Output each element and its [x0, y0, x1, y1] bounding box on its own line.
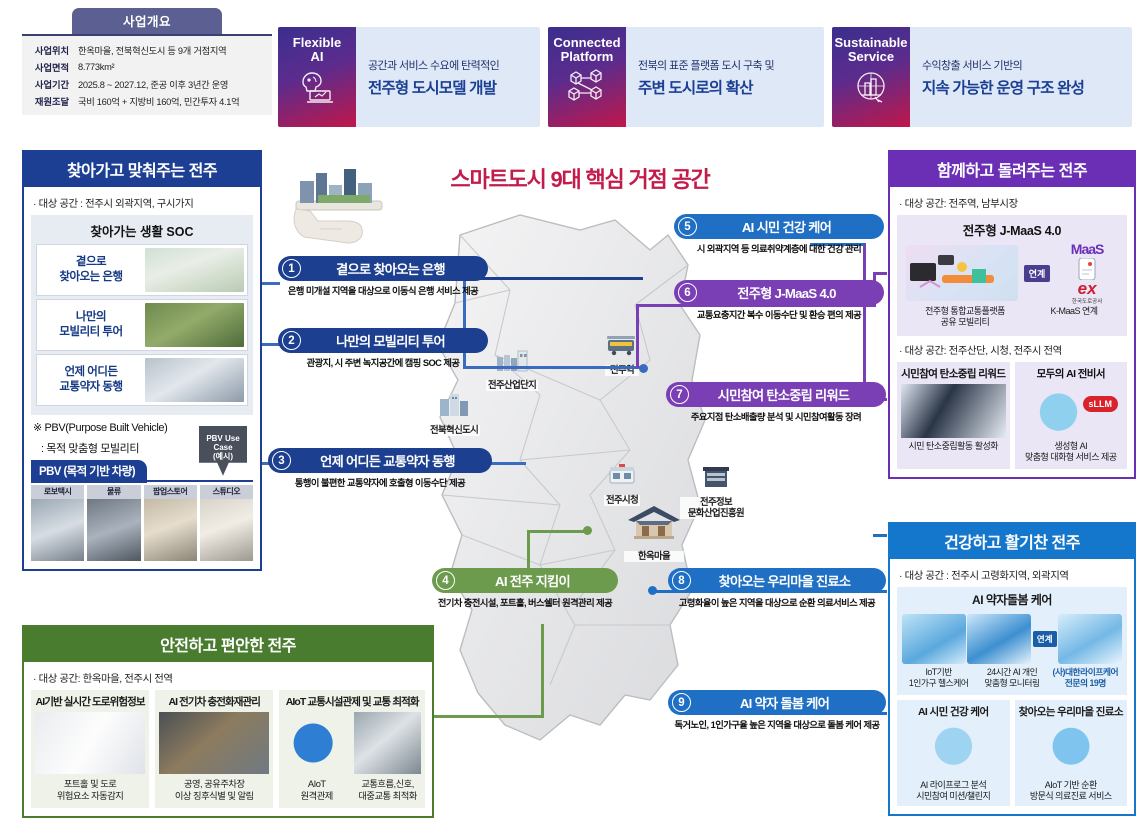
callout-description: 은행 미개설 지역을 대상으로 이동식 은행 서비스 제공 — [278, 283, 488, 297]
cell-title: AIoT 교통시설관제 및 교통 최적화 — [283, 694, 421, 709]
soc-item-label: 나만의 모빌리티 투어 — [37, 300, 145, 350]
overview-key: 사업면적 — [26, 60, 78, 74]
pbv-usecase-badge: PBV Use Case (예시) — [199, 426, 247, 476]
overview-value: 국비 160억 + 지방비 160억, 민간투자 4.1억 — [78, 94, 268, 108]
link-label: 연계 — [1033, 631, 1057, 647]
banner-title-line2: Service — [848, 50, 894, 64]
banner-subtitle: 전북의 표준 플랫폼 도시 구축 및 — [638, 57, 824, 73]
sub-title: 찾아오는 우리마을 진료소 — [1019, 704, 1124, 719]
callout-title: 시민참여 탄소중립 리워드 — [693, 385, 886, 404]
callout-number: 4 — [436, 571, 455, 590]
pbv-image — [200, 499, 253, 561]
overview-value: 한옥마을, 전북혁신도시 등 9개 거점지역 — [78, 43, 268, 57]
banner-subtitle: 공간과 서비스 수요에 탄력적인 — [368, 57, 540, 73]
value-banner-connected-platform: Connected Platform 전북의 표준 플랫폼 도시 구축 및 주변… — [548, 27, 824, 127]
panel-target-area: 대상 공간: 한옥마을, 전주시 전역 — [33, 670, 425, 685]
connector-line — [434, 715, 544, 718]
cell-caption: 공영, 공유주차장 이상 징후식별 및 알림 — [159, 778, 269, 802]
card-title: AI 약자돌봄 케어 — [902, 591, 1122, 608]
factory-icon — [495, 345, 529, 375]
sub-caption: 시민 탄소중립활동 활성화 — [901, 441, 1006, 452]
sub-image — [1019, 721, 1124, 777]
map-marker-innovation-city: 전북혁신도시 — [428, 390, 480, 436]
table-row: 사업면적 8.773km² — [26, 58, 268, 75]
value-banner-flexible-ai: Flexible AI 공간과 서비스 수요에 탄력적인 전주형 도시모델 개발 — [278, 27, 540, 127]
soc-box: 찾아가는 생활 SOC 곁으로 찾아오는 은행 나만의 모빌리티 투어 언제 어… — [31, 215, 253, 415]
overview-value: 8.773km² — [78, 62, 268, 72]
banner-subtitle: 수익창출 서비스 기반의 — [922, 57, 1132, 73]
callout-number: 7 — [670, 385, 689, 404]
table-row: 사업기간 2025.8 ~ 2027.12, 준공 이후 3년간 운영 — [26, 75, 268, 92]
office-building-icon — [699, 462, 733, 492]
callout-description: 전기차 충전시설, 포트홀, 버스쉘터 원격관리 제공 — [432, 595, 618, 609]
callout-number: 5 — [678, 217, 697, 236]
pbv-image — [87, 499, 140, 561]
callout-number: 9 — [672, 693, 691, 712]
cell-image-right — [354, 712, 421, 774]
list-item[interactable]: 시민참여 탄소중립 리워드 시민 탄소중립활동 활성화 — [897, 362, 1010, 470]
banner-badge: Connected Platform — [548, 27, 626, 127]
callout-pill[interactable]: 1 곁으로 찾아오는 은행 — [278, 256, 488, 281]
callout-8[interactable]: 8 찾아오는 우리마을 진료소 고령화율이 높은 지역을 대상으로 순환 의료서… — [668, 568, 886, 609]
callout-description: 통행이 불편한 교통약자에 호출형 이동수단 제공 — [268, 475, 492, 489]
soc-item-label: 곁으로 찾아오는 은행 — [37, 245, 145, 295]
ai-monitoring-illustration — [967, 614, 1031, 664]
callout-pill[interactable]: 9 AI 약자 돌봄 케어 — [668, 690, 886, 715]
callout-4[interactable]: 4 AI 전주 지킴이 전기차 충전시설, 포트홀, 버스쉘터 원격관리 제공 — [432, 568, 618, 609]
sub-image: sLLM — [1019, 384, 1124, 438]
connector-line — [463, 366, 641, 369]
sllm-badge: sLLM — [1083, 396, 1119, 412]
panel-together-jeonju: 함께하고 돌려주는 전주 대상 공간: 전주역, 남부시장 전주형 J-MaaS… — [888, 150, 1136, 479]
ex-sublabel: 한국도로공사 — [1056, 297, 1118, 305]
list-item[interactable]: 모두의 AI 전비서 sLLM 생성형 AI 맞춤형 대화형 서비스 제공 — [1015, 362, 1128, 470]
banner-headline: 주변 도시로의 확산 — [638, 76, 824, 98]
banner-title-line2: Platform — [561, 50, 614, 64]
pbv-image — [144, 499, 197, 561]
care-card: AI 약자돌봄 케어 연계 IoT기반 1인가구 헬스케어 24시간 AI 개인… — [897, 587, 1127, 695]
care-caption-1: IoT기반 1인가구 헬스케어 — [902, 667, 975, 689]
train-station-icon — [605, 330, 639, 360]
banner-headline: 지속 가능한 운영 구조 완성 — [922, 76, 1132, 98]
panel-header: 함께하고 돌려주는 전주 — [890, 152, 1134, 187]
callout-3[interactable]: 3 언제 어디든 교통약자 동행 통행이 불편한 교통약자에 호출형 이동수단 … — [268, 448, 492, 489]
panel-target-area: 대상 공간 : 전주시 외곽지역, 구시가지 — [33, 195, 253, 210]
panel-header: 찾아가고 맞춰주는 전주 — [24, 152, 260, 187]
banner-text: 공간과 서비스 수요에 탄력적인 전주형 도시모델 개발 — [356, 27, 540, 127]
panel-target-area-2: 대상 공간: 전주산단, 시청, 전주시 전역 — [899, 342, 1127, 357]
callout-9[interactable]: 9 AI 약자 돌봄 케어 독거노인, 1인가구율 높은 지역을 대상으로 돌봄… — [668, 690, 886, 731]
sub-caption: 생성형 AI 맞춤형 대화형 서비스 제공 — [1019, 441, 1124, 464]
callout-description: 독거노인, 1인가구율 높은 지역을 대상으로 돌봄 케어 제공 — [668, 717, 886, 731]
list-item[interactable]: 찾아오는 우리마을 진료소 AIoT 기반 순환 방문식 의료진료 서비스 — [1015, 700, 1128, 807]
hanok-icon — [624, 500, 684, 546]
list-item[interactable]: AI 전기차 충전화재관리 공영, 공유주차장 이상 징후식별 및 알림 — [155, 690, 273, 808]
link-label: 연계 — [1024, 265, 1051, 282]
callout-pill[interactable]: 8 찾아오는 우리마을 진료소 — [668, 568, 886, 593]
callout-6[interactable]: 6 전주형 J-MaaS 4.0 교통요충지간 복수 이동수단 및 환승 편의 … — [674, 280, 884, 321]
sub-title: 모두의 AI 전비서 — [1019, 366, 1124, 381]
callout-title: AI 약자 돌봄 케어 — [695, 693, 886, 712]
banner-title-line1: Connected — [553, 36, 620, 50]
overview-key: 사업기간 — [26, 77, 78, 91]
sub-caption: AIoT 기반 순환 방문식 의료진료 서비스 — [1019, 780, 1124, 803]
pbv-caption: 스튜디오 — [200, 485, 253, 499]
sub-title: AI 시민 건강 케어 — [901, 704, 1006, 719]
card-caption-right: K-MaaS 연계 — [1034, 306, 1114, 329]
city-globe-icon — [851, 69, 891, 105]
callout-5[interactable]: 5 AI 시민 건강 케어 시 외곽지역 등 의료취약계층에 대한 건강 관리 — [674, 214, 884, 255]
callout-title: AI 전주 지킴이 — [459, 571, 618, 590]
list-item[interactable]: 로보택시 — [31, 485, 84, 561]
smartphone-icon — [1069, 258, 1105, 280]
doctor-illustration — [1058, 614, 1122, 664]
callout-description: 고령화율이 높은 지역을 대상으로 순환 의료서비스 제공 — [668, 595, 886, 609]
panel-target-area-1: 대상 공간: 전주역, 남부시장 — [899, 195, 1127, 210]
table-row: 사업위치 한옥마을, 전북혁신도시 등 9개 거점지역 — [26, 41, 268, 58]
pbv-caption: 팝업스토어 — [144, 485, 197, 499]
callout-description: 시 외곽지역 등 의료취약계층에 대한 건강 관리 — [674, 241, 884, 255]
panel-healthy-jeonju: 건강하고 활기찬 전주 대상 공간 : 전주시 고령화지역, 외곽지역 AI 약… — [888, 522, 1136, 816]
value-banner-sustainable-service: Sustainable Service 수익창출 서비스 기반의 지속 가능한 … — [832, 27, 1132, 127]
maas-logo: MaaS — [1056, 241, 1118, 257]
list-item[interactable]: 팝업스토어 — [144, 485, 197, 561]
callout-pill[interactable]: 4 AI 전주 지킴이 — [432, 568, 618, 593]
list-item[interactable]: 나만의 모빌리티 투어 — [36, 299, 248, 351]
connector-line — [863, 243, 866, 401]
overview-value: 2025.8 ~ 2027.12, 준공 이후 3년간 운영 — [78, 77, 268, 91]
callout-number: 3 — [272, 451, 291, 470]
project-overview-card: 사업개요 사업위치 한옥마을, 전북혁신도시 등 9개 거점지역 사업면적 8.… — [22, 8, 272, 115]
sub-image — [901, 721, 1006, 777]
banner-title-line2: AI — [311, 50, 324, 64]
callout-1[interactable]: 1 곁으로 찾아오는 은행 은행 미개설 지역을 대상으로 이동식 은행 서비스… — [278, 256, 488, 297]
callout-description: 관광지, 시 주변 녹지공간에 캠핑 SOC 제공 — [278, 355, 488, 369]
map-marker-hanok-village: 한옥마을 — [624, 500, 684, 562]
jmaas-card: 전주형 J-MaaS 4.0 연계 MaaS — [897, 215, 1127, 336]
callout-number: 2 — [282, 331, 301, 350]
cell-caption: 포트홀 및 도로 위험요소 자동감지 — [35, 778, 145, 802]
overview-key: 재원조달 — [26, 94, 78, 108]
callout-2[interactable]: 2 나만의 모빌리티 투어 관광지, 시 주변 녹지공간에 캠핑 SOC 제공 — [278, 328, 488, 369]
hand-holding-smartcity-icon — [288, 165, 406, 245]
jmaas-platform-illustration — [906, 245, 1018, 301]
cell-caption-left: AIoT 원격관제 — [283, 778, 350, 802]
cityhall-icon — [605, 460, 639, 490]
card-caption-left: 전주형 통합교통플랫폼 공유 모빌리티 — [910, 306, 1020, 329]
connector-line — [541, 624, 544, 718]
banner-text: 수익창출 서비스 기반의 지속 가능한 운영 구조 완성 — [910, 27, 1132, 127]
connector-dot — [583, 526, 592, 535]
connector-line — [463, 277, 643, 280]
banner-text: 전북의 표준 플랫폼 도시 구축 및 주변 도시로의 확산 — [626, 27, 824, 127]
cell-image — [35, 712, 145, 774]
callout-7[interactable]: 7 시민참여 탄소중립 리워드 주요지점 탄소배출량 분석 및 시민참여활동 장… — [666, 382, 886, 423]
soc-item-image — [145, 248, 244, 292]
panel-header: 건강하고 활기찬 전주 — [890, 524, 1134, 559]
ex-logo: ex — [1056, 281, 1118, 296]
care-caption-2: 24시간 AI 개인 맞춤형 모니터링 — [975, 667, 1048, 689]
pbv-image — [31, 499, 84, 561]
overview-key: 사업위치 — [26, 43, 78, 57]
list-item[interactable]: AIoT 교통시설관제 및 교통 최적화 AIoT 원격관제 교통흐름,신호, … — [279, 690, 425, 808]
connector-line — [636, 304, 639, 368]
connector-line — [873, 272, 887, 275]
callout-pill[interactable]: 6 전주형 J-MaaS 4.0 — [674, 280, 884, 305]
callout-title: 언제 어디든 교통약자 동행 — [295, 451, 492, 470]
panel-header: 안전하고 편안한 전주 — [24, 627, 432, 662]
callout-pill[interactable]: 7 시민참여 탄소중립 리워드 — [666, 382, 886, 407]
sub-title: 시민참여 탄소중립 리워드 — [901, 366, 1006, 381]
soc-item-image — [145, 303, 244, 347]
connector-line — [873, 534, 887, 537]
callout-title: 나만의 모빌리티 투어 — [305, 331, 488, 350]
cell-title: AI기반 실시간 도로위험정보 — [35, 694, 145, 709]
buildings-icon — [437, 390, 471, 420]
care-caption-3: (사)대한라이프케어 전문의 19명 — [1049, 667, 1122, 689]
callout-title: 찾아오는 우리마을 진료소 — [695, 571, 886, 590]
list-item[interactable]: AI 시민 건강 케어 AI 라이프로그 분석 시민참여 미션/챌린지 — [897, 700, 1010, 807]
callout-description: 교통요충지간 복수 이동수단 및 환승 편의 제공 — [674, 307, 884, 321]
mobility-platform-icon — [906, 245, 1018, 301]
banner-title-line1: Flexible — [293, 36, 341, 50]
map-marker-label: 한옥마을 — [624, 551, 684, 562]
soc-item-label: 언제 어디든 교통약자 동행 — [37, 355, 145, 405]
cell-title: AI 전기차 충전화재관리 — [159, 694, 269, 709]
list-item[interactable]: 물류 — [87, 485, 140, 561]
panel-target-area: 대상 공간 : 전주시 고령화지역, 외곽지역 — [899, 567, 1127, 582]
map-marker-info-culture-agency: 전주정보 문화산업진흥원 — [680, 462, 752, 519]
pbv-tab-label: PBV (목적 기반 차량) — [31, 460, 147, 483]
iot-health-illustration — [902, 614, 966, 664]
callout-title: 전주형 J-MaaS 4.0 — [701, 283, 884, 302]
pbv-grid: 로보택시 물류 팝업스토어 스튜디오 — [31, 480, 253, 561]
callout-description: 주요지점 탄소배출량 분석 및 시민참여활동 장려 — [666, 409, 886, 423]
ai-brain-laptop-icon — [297, 69, 337, 105]
banner-title-line1: Sustainable — [835, 36, 908, 50]
map-marker-city-hall: 전주시청 — [604, 460, 640, 506]
panel-safe-jeonju: 안전하고 편안한 전주 대상 공간: 한옥마을, 전주시 전역 AI기반 실시간… — [22, 625, 434, 818]
network-cubes-icon — [565, 69, 609, 103]
callout-number: 1 — [282, 259, 301, 278]
soc-header: 찾아가는 생활 SOC — [36, 219, 248, 244]
banner-badge: Flexible AI — [278, 27, 356, 127]
callout-pill[interactable]: 5 AI 시민 건강 케어 — [674, 214, 884, 239]
callout-number: 8 — [672, 571, 691, 590]
pbv-caption: 로보택시 — [31, 485, 84, 499]
cell-caption-right: 교통흐름,신호, 대중교통 최적화 — [354, 778, 421, 802]
panel-visiting-jeonju: 찾아가고 맞춰주는 전주 대상 공간 : 전주시 외곽지역, 구시가지 찾아가는… — [22, 150, 262, 571]
card-title: 전주형 J-MaaS 4.0 — [903, 220, 1121, 239]
cell-image — [159, 712, 269, 774]
pbv-caption: 물류 — [87, 485, 140, 499]
map-marker-label: 전주산업단지 — [486, 380, 538, 391]
overview-tab-label: 사업개요 — [72, 8, 222, 34]
map-marker-label: 전주정보 문화산업진흥원 — [680, 497, 752, 519]
callout-number: 6 — [678, 283, 697, 302]
sub-image — [901, 384, 1006, 438]
overview-table: 사업위치 한옥마을, 전북혁신도시 등 9개 거점지역 사업면적 8.773km… — [22, 34, 272, 115]
map-marker-label: 전북혁신도시 — [428, 425, 480, 436]
list-item[interactable]: 언제 어디든 교통약자 동행 — [36, 354, 248, 406]
connector-line — [527, 530, 587, 533]
map-title: 스마트도시 9대 핵심 거점 공간 — [420, 162, 740, 194]
banner-badge: Sustainable Service — [832, 27, 910, 127]
list-item[interactable]: 스튜디오 — [200, 485, 253, 561]
banner-headline: 전주형 도시모델 개발 — [368, 76, 540, 98]
table-row: 재원조달 국비 160억 + 지방비 160억, 민간투자 4.1억 — [26, 92, 268, 109]
callout-title: 곁으로 찾아오는 은행 — [305, 259, 488, 278]
list-item[interactable]: AI기반 실시간 도로위험정보 포트홀 및 도로 위험요소 자동감지 — [31, 690, 149, 808]
callout-pill[interactable]: 2 나만의 모빌리티 투어 — [278, 328, 488, 353]
callout-title: AI 시민 건강 케어 — [701, 217, 884, 236]
sub-caption: AI 라이프로그 분석 시민참여 미션/챌린지 — [901, 780, 1006, 803]
soc-item-image — [145, 358, 244, 402]
cell-image-left — [283, 712, 350, 774]
list-item[interactable]: 곁으로 찾아오는 은행 — [36, 244, 248, 296]
callout-pill[interactable]: 3 언제 어디든 교통약자 동행 — [268, 448, 492, 473]
